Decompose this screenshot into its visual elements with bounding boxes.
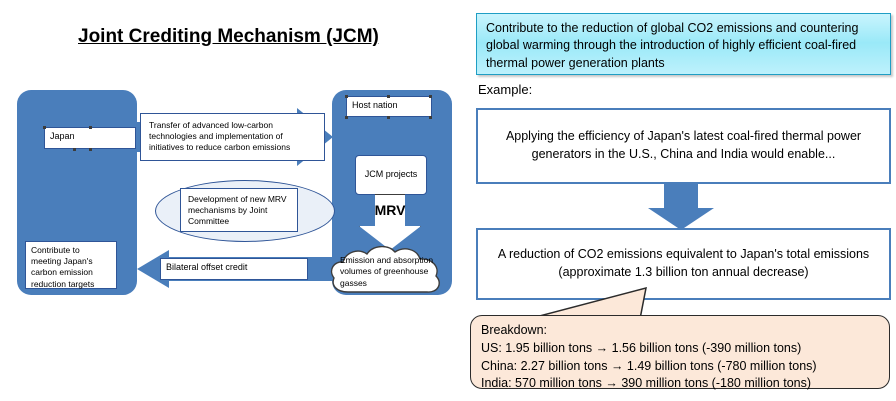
example-step1-box: Applying the efficiency of Japan's lates…: [476, 108, 891, 184]
selection-handle-icon[interactable]: [345, 95, 348, 98]
selection-handle-icon[interactable]: [43, 126, 46, 129]
selection-handle-icon[interactable]: [387, 116, 390, 119]
example-down-arrow-icon: [648, 184, 714, 230]
jcm-flow-diagram: Transfer of advanced low-carbon technolo…: [0, 80, 460, 305]
contribution-header-box: Contribute to the reduction of global CO…: [476, 13, 891, 75]
selection-handle-icon[interactable]: [89, 148, 92, 151]
selection-handle-icon[interactable]: [73, 148, 76, 151]
breakdown-line-india: India: 570 million tons → 390 million to…: [481, 375, 879, 393]
page-title: Joint Crediting Mechanism (JCM): [78, 26, 379, 48]
mrv-development-text: Development of new MRV mechanisms by Joi…: [188, 194, 287, 226]
contribution-header-text: Contribute to the reduction of global CO…: [486, 21, 858, 70]
breakdown-callout: Breakdown: US: 1.95 billion tons → 1.56 …: [470, 315, 890, 389]
jcm-projects-box: JCM projects: [355, 155, 427, 195]
selection-handle-icon[interactable]: [429, 116, 432, 119]
contribute-targets-box: Contribute to meeting Japan's carbon emi…: [25, 241, 117, 289]
example-step2-text: A reduction of CO2 emissions equivalent …: [496, 246, 871, 282]
transfer-technologies-box: Transfer of advanced low-carbon technolo…: [140, 113, 325, 161]
mrv-development-box: Development of new MRV mechanisms by Joi…: [180, 188, 298, 232]
slide-canvas: Joint Crediting Mechanism (JCM) Transfer…: [0, 0, 896, 401]
japan-label-box: Japan: [44, 127, 136, 149]
example-label: Example:: [478, 82, 532, 97]
bilateral-offset-credit-box: Bilateral offset credit: [160, 258, 308, 280]
selection-handle-icon[interactable]: [387, 95, 390, 98]
jcm-projects-text: JCM projects: [365, 169, 418, 181]
selection-handle-icon[interactable]: [89, 126, 92, 129]
contribute-targets-text: Contribute to meeting Japan's carbon emi…: [31, 245, 94, 289]
example-step1-text: Applying the efficiency of Japan's lates…: [496, 128, 871, 164]
host-nation-label-text: Host nation: [352, 100, 398, 110]
selection-handle-icon[interactable]: [345, 116, 348, 119]
host-nation-label-box: Host nation: [346, 96, 432, 117]
example-panel: Contribute to the reduction of global CO…: [466, 0, 896, 401]
transfer-technologies-text: Transfer of advanced low-carbon technolo…: [149, 120, 290, 152]
japan-label-text: Japan: [50, 131, 75, 141]
breakdown-line-us: US: 1.95 billion tons → 1.56 billion ton…: [481, 340, 879, 358]
breakdown-heading: Breakdown:: [481, 322, 879, 340]
selection-handle-icon[interactable]: [429, 95, 432, 98]
mrv-arrow-label: MRV: [359, 202, 421, 218]
greenhouse-gas-cloud-text: Emission and absorption volumes of green…: [340, 255, 440, 289]
bilateral-offset-credit-text: Bilateral offset credit: [166, 262, 247, 272]
breakdown-line-china: China: 2.27 billion tons → 1.49 billion …: [481, 358, 879, 376]
